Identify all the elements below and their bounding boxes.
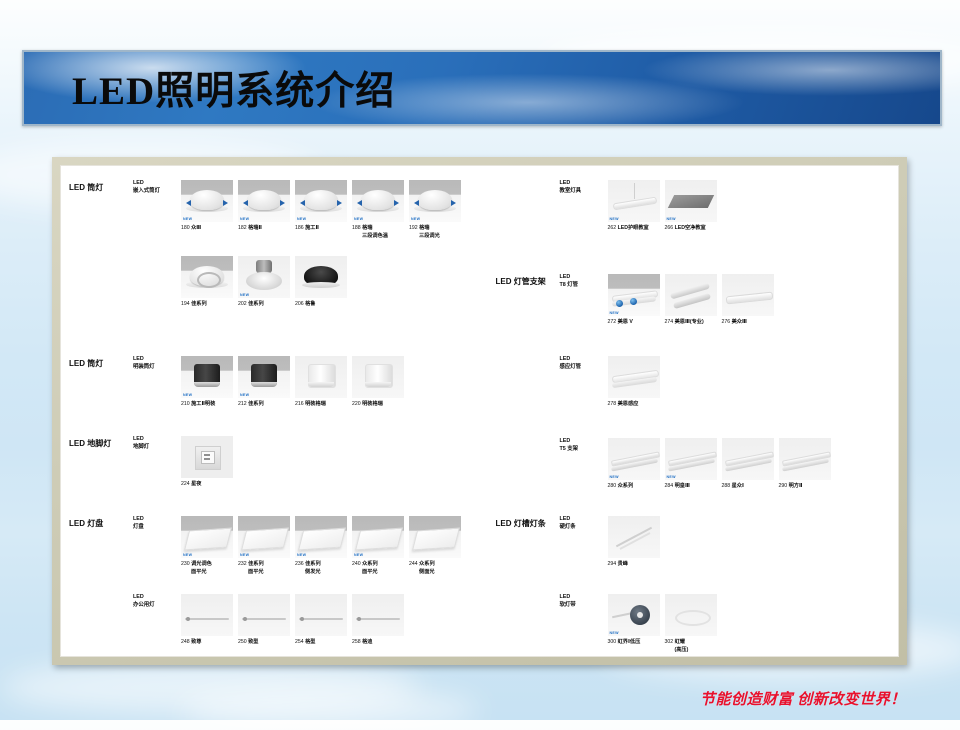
product-item[interactable]: 194 佳系列: [181, 256, 233, 309]
product-name: 致尊: [191, 639, 201, 645]
product-thumbnail: NEW: [238, 356, 290, 398]
product-thumbnail: NEW: [352, 180, 404, 222]
product-name: 美恩感应: [618, 401, 639, 407]
product-name: LED空净教室: [675, 225, 706, 231]
product-thumbnail-row: NEW180 众ⅢNEW182 格瑞ⅡNEW186 施工ⅡNEW188 格瑞三段…: [181, 180, 466, 241]
product-thumbnail-row: 278 美恩感应: [608, 356, 665, 409]
product-name: 佳系列: [248, 401, 264, 407]
catalog-subcategory-label: LEDT5 支架: [560, 438, 602, 454]
product-caption: 212 佳系列: [238, 401, 290, 409]
product-name: 明方Ⅱ: [789, 483, 803, 489]
product-thumbnail: NEW: [665, 438, 717, 480]
catalog-subcategory-label: LED灯盘: [133, 516, 175, 532]
product-name-secondary: (高压): [665, 647, 717, 655]
catalog-category-label: LED 灯盘: [69, 518, 103, 529]
new-badge: NEW: [297, 217, 306, 221]
product-item[interactable]: NEW192 格瑞三段调光: [409, 180, 461, 241]
product-thumbnail-row: NEW300 虹界Ⅰ低压302 虹耀(高压): [608, 594, 722, 655]
product-thumbnail: [665, 594, 717, 636]
product-thumbnail: NEW: [608, 274, 660, 316]
product-thumbnail: [295, 256, 347, 298]
product-thumbnail-row: NEW262 LED护眼教室NEW266 LED空净教室: [608, 180, 722, 233]
product-name: 格鲁: [305, 301, 315, 307]
product-thumbnail: [352, 594, 404, 636]
product-thumbnail: NEW: [181, 516, 233, 558]
product-caption: 280 众系列: [608, 483, 660, 491]
new-badge: NEW: [240, 553, 249, 557]
product-name: 众Ⅲ: [191, 225, 201, 231]
new-badge: NEW: [354, 217, 363, 221]
product-item[interactable]: 258 格迪: [352, 594, 404, 647]
product-name: 佳系列: [191, 301, 207, 307]
product-thumbnail: NEW: [608, 438, 660, 480]
product-name-secondary: 面平光: [238, 569, 290, 577]
product-thumbnail: [779, 438, 831, 480]
product-caption: 224 星夜: [181, 481, 233, 489]
product-caption: 240 众系列面平光: [352, 561, 404, 577]
catalog-frame: LED 筒灯LED嵌入式筒灯NEW180 众ⅢNEW182 格瑞ⅡNEW186 …: [52, 157, 907, 665]
product-name: 众系列: [618, 483, 634, 489]
catalog-category-label: LED 筒灯: [69, 358, 103, 369]
product-name-secondary: 面平光: [181, 569, 233, 577]
product-item[interactable]: 302 虹耀(高压): [665, 594, 717, 655]
new-badge: NEW: [183, 393, 192, 397]
product-caption: 210 施工Ⅱ明装: [181, 401, 233, 409]
product-item[interactable]: 278 美恩感应: [608, 356, 660, 409]
product-name: 佳系列: [248, 561, 264, 567]
product-thumbnail: [608, 356, 660, 398]
product-caption: 248 致尊: [181, 639, 233, 647]
product-thumbnail: NEW: [238, 180, 290, 222]
product-item[interactable]: NEW240 众系列面平光: [352, 516, 404, 577]
catalog-subcategory-label: LED地脚灯: [133, 436, 175, 452]
new-badge: NEW: [411, 217, 420, 221]
background-cloud: [0, 660, 420, 715]
product-item[interactable]: NEW262 LED护眼教室: [608, 180, 660, 233]
product-item[interactable]: NEW180 众Ⅲ: [181, 180, 233, 241]
product-caption: 232 佳系列面平光: [238, 561, 290, 577]
product-item[interactable]: NEW284 明皇Ⅲ: [665, 438, 717, 491]
catalog-column-left: LED 筒灯LED嵌入式筒灯NEW180 众ⅢNEW182 格瑞ⅡNEW186 …: [61, 166, 480, 656]
product-name: 星夜: [191, 481, 201, 487]
product-thumbnail: [295, 356, 347, 398]
product-thumbnail: [722, 274, 774, 316]
background-cloud: [180, 690, 480, 730]
product-name: 格瑞Ⅱ: [248, 225, 262, 231]
product-name: 明皇Ⅲ: [675, 483, 690, 489]
catalog-subcategory-label: LED办公用灯: [133, 594, 175, 610]
product-name: 明装格瑞: [362, 401, 383, 407]
product-caption: 262 LED护眼教室: [608, 225, 660, 233]
product-caption: 278 美恩感应: [608, 401, 660, 409]
product-caption: 220 明装格瑞: [352, 401, 404, 409]
product-caption: 180 众Ⅲ: [181, 225, 233, 233]
new-badge: NEW: [240, 217, 249, 221]
product-item[interactable]: NEW266 LED空净教室: [665, 180, 717, 233]
product-caption: 192 格瑞三段调光: [409, 225, 461, 241]
product-item[interactable]: NEW210 施工Ⅱ明装: [181, 356, 233, 409]
product-name: 佳系列: [248, 301, 264, 307]
product-item[interactable]: NEW230 调光调色面平光: [181, 516, 233, 577]
product-name: 施工Ⅱ: [305, 225, 319, 231]
product-caption: 300 虹界Ⅰ低压: [608, 639, 660, 647]
product-item[interactable]: NEW188 格瑞三段调色温: [352, 180, 404, 241]
product-caption: 294 贵峰: [608, 561, 660, 569]
product-name: 调光调色: [191, 561, 212, 567]
new-badge: NEW: [610, 475, 619, 479]
product-item[interactable]: NEW186 施工Ⅱ: [295, 180, 347, 241]
product-thumbnail: NEW: [181, 180, 233, 222]
product-thumbnail: [352, 356, 404, 398]
product-item[interactable]: 276 美众Ⅲ: [722, 274, 774, 327]
product-caption: 288 星众Ⅰ: [722, 483, 774, 491]
new-badge: NEW: [354, 553, 363, 557]
product-name: 格瑞: [419, 225, 429, 231]
product-item[interactable]: NEW202 佳系列: [238, 256, 290, 309]
product-name: 众系列: [419, 561, 435, 567]
product-thumbnail: [722, 438, 774, 480]
product-thumbnail: NEW: [608, 594, 660, 636]
product-thumbnail: NEW: [352, 516, 404, 558]
new-badge: NEW: [667, 217, 676, 221]
product-thumbnail-row: NEW272 美恩 V274 美恩Ⅲ(专业)276 美众Ⅲ: [608, 274, 779, 327]
page-title: LED照明系统介绍: [72, 60, 395, 116]
product-name-secondary: 侧面光: [409, 569, 461, 577]
product-item[interactable]: NEW182 格瑞Ⅱ: [238, 180, 290, 241]
product-thumbnail-row: 294 贵峰: [608, 516, 665, 569]
product-caption: 236 佳系列侧发光: [295, 561, 347, 577]
product-caption: 186 施工Ⅱ: [295, 225, 347, 233]
product-thumbnail: [409, 516, 461, 558]
product-item[interactable]: 244 众系列侧面光: [409, 516, 461, 577]
product-thumbnail: NEW: [295, 516, 347, 558]
new-badge: NEW: [610, 217, 619, 221]
product-name: 格瑞: [362, 225, 372, 231]
new-badge: NEW: [610, 631, 619, 635]
catalog-subcategory-label: LED教室灯具: [560, 180, 602, 196]
product-caption: 254 格型: [295, 639, 347, 647]
product-thumbnail: [295, 594, 347, 636]
product-thumbnail: NEW: [238, 256, 290, 298]
product-item[interactable]: NEW272 美恩 V: [608, 274, 660, 327]
product-item[interactable]: NEW280 众系列: [608, 438, 660, 491]
product-thumbnail: [181, 436, 233, 478]
catalog-subcategory-label: LEDT8 灯管: [560, 274, 602, 290]
product-item[interactable]: 224 星夜: [181, 436, 233, 489]
product-thumbnail: NEW: [409, 180, 461, 222]
catalog-subcategory-label: LED嵌入式筒灯: [133, 180, 175, 196]
product-name: 贵峰: [618, 561, 628, 567]
product-item[interactable]: 220 明装格瑞: [352, 356, 404, 409]
catalog-subcategory-label: LED软灯带: [560, 594, 602, 610]
product-caption: 206 格鲁: [295, 301, 347, 309]
product-item[interactable]: 216 明装格瑞: [295, 356, 347, 409]
product-name: 美恩 V: [618, 319, 633, 325]
title-banner: LED照明系统介绍: [22, 50, 942, 126]
product-item[interactable]: 274 美恩Ⅲ(专业): [665, 274, 717, 327]
catalog-subcategory-label: LED明装筒灯: [133, 356, 175, 372]
new-badge: NEW: [240, 293, 249, 297]
catalog-category-label: LED 地脚灯: [69, 438, 111, 449]
product-caption: 202 佳系列: [238, 301, 290, 309]
product-thumbnail: [181, 256, 233, 298]
catalog-category-label: LED 灯槽灯条: [496, 518, 546, 529]
product-thumbnail: [181, 594, 233, 636]
product-name: 明装格瑞: [305, 401, 326, 407]
product-name: 施工Ⅱ明装: [191, 401, 215, 407]
product-name: 致型: [248, 639, 258, 645]
product-thumbnail: NEW: [238, 516, 290, 558]
product-name-secondary: 侧发光: [295, 569, 347, 577]
product-caption: 266 LED空净教室: [665, 225, 717, 233]
product-caption: 194 佳系列: [181, 301, 233, 309]
product-thumbnail: NEW: [295, 180, 347, 222]
product-name: 佳系列: [305, 561, 321, 567]
product-item[interactable]: NEW232 佳系列面平光: [238, 516, 290, 577]
product-name: LED护眼教室: [618, 225, 649, 231]
product-caption: 276 美众Ⅲ: [722, 319, 774, 327]
catalog-subcategory-label: LED感应灯管: [560, 356, 602, 372]
product-thumbnail: [665, 274, 717, 316]
product-thumbnail-row: NEW230 调光调色面平光NEW232 佳系列面平光NEW236 佳系列侧发光…: [181, 516, 466, 577]
product-caption: 290 明方Ⅱ: [779, 483, 831, 491]
product-caption: 272 美恩 V: [608, 319, 660, 327]
product-item[interactable]: 290 明方Ⅱ: [779, 438, 831, 491]
product-name: 众系列: [362, 561, 378, 567]
product-name-secondary: 三段调色温: [352, 233, 404, 241]
product-caption: 216 明装格瑞: [295, 401, 347, 409]
product-item[interactable]: NEW300 虹界Ⅰ低压: [608, 594, 660, 655]
product-caption: 230 调光调色面平光: [181, 561, 233, 577]
product-thumbnail-row: 194 佳系列NEW202 佳系列206 格鲁: [181, 256, 352, 309]
catalog-column-right: LED教室灯具NEW262 LED护眼教室NEW266 LED空净教室LED 灯…: [480, 166, 899, 656]
product-thumbnail: [238, 594, 290, 636]
product-thumbnail-row: 248 致尊250 致型254 格型258 格迪: [181, 594, 409, 647]
product-caption: 188 格瑞三段调色温: [352, 225, 404, 241]
footer-slogan: 节能创造财富 创新改变世界！: [700, 688, 906, 709]
product-thumbnail-row: NEW210 施工Ⅱ明装NEW212 佳系列216 明装格瑞220 明装格瑞: [181, 356, 409, 409]
product-thumbnail: NEW: [665, 180, 717, 222]
product-caption: 250 致型: [238, 639, 290, 647]
catalog-sheet: LED 筒灯LED嵌入式筒灯NEW180 众ⅢNEW182 格瑞ⅡNEW186 …: [60, 165, 899, 657]
catalog-category-label: LED 灯管支架: [496, 276, 546, 287]
product-name-secondary: 三段调光: [409, 233, 461, 241]
product-thumbnail-row: NEW280 众系列NEW284 明皇Ⅲ288 星众Ⅰ290 明方Ⅱ: [608, 438, 836, 491]
product-item[interactable]: 248 致尊: [181, 594, 233, 647]
product-name: 星众Ⅰ: [732, 483, 744, 489]
product-item[interactable]: 206 格鲁: [295, 256, 347, 309]
new-badge: NEW: [240, 393, 249, 397]
product-caption: 274 美恩Ⅲ(专业): [665, 319, 717, 327]
product-item[interactable]: 254 格型: [295, 594, 347, 647]
product-thumbnail-row: 224 星夜: [181, 436, 238, 489]
new-badge: NEW: [610, 311, 619, 315]
product-item[interactable]: NEW236 佳系列侧发光: [295, 516, 347, 577]
product-name: 格迪: [362, 639, 372, 645]
product-caption: 182 格瑞Ⅱ: [238, 225, 290, 233]
product-name-secondary: 面平光: [352, 569, 404, 577]
product-thumbnail: NEW: [608, 180, 660, 222]
product-name: 美众Ⅲ: [732, 319, 747, 325]
new-badge: NEW: [667, 475, 676, 479]
catalog-category-label: LED 筒灯: [69, 182, 103, 193]
catalog-subcategory-label: LED硬灯条: [560, 516, 602, 532]
product-caption: 284 明皇Ⅲ: [665, 483, 717, 491]
product-item[interactable]: 288 星众Ⅰ: [722, 438, 774, 491]
product-caption: 244 众系列侧面光: [409, 561, 461, 577]
product-name: 美恩Ⅲ(专业): [675, 319, 704, 325]
product-name: 格型: [305, 639, 315, 645]
product-name: 虹界Ⅰ低压: [618, 639, 641, 645]
new-badge: NEW: [297, 553, 306, 557]
product-name: 虹耀: [675, 639, 685, 645]
product-caption: 302 虹耀(高压): [665, 639, 717, 655]
product-thumbnail: [608, 516, 660, 558]
product-caption: 258 格迪: [352, 639, 404, 647]
new-badge: NEW: [183, 217, 192, 221]
new-badge: NEW: [183, 553, 192, 557]
product-item[interactable]: NEW212 佳系列: [238, 356, 290, 409]
product-item[interactable]: 250 致型: [238, 594, 290, 647]
product-thumbnail: NEW: [181, 356, 233, 398]
product-item[interactable]: 294 贵峰: [608, 516, 660, 569]
